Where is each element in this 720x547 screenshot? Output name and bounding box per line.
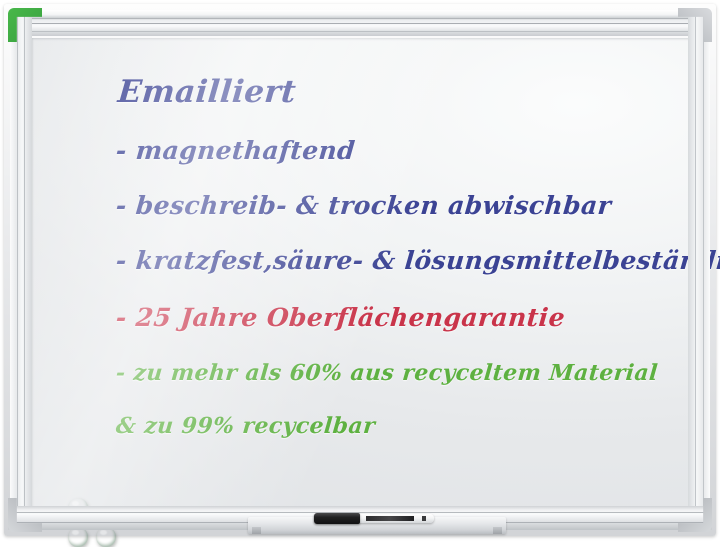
round-magnet[interactable]: [68, 527, 88, 547]
round-magnet[interactable]: [96, 527, 116, 547]
marker-cap: [314, 513, 360, 524]
whiteboard-frame: Emailliert - magnethaftend - beschreib- …: [4, 4, 716, 536]
whiteboard-marker[interactable]: [314, 513, 434, 524]
board-title: Emailliert: [116, 74, 297, 110]
handwriting-content: Emailliert - magnethaftend - beschreib- …: [32, 38, 696, 510]
board-bullet-garantie: - 25 Jahre Oberflächengarantie: [115, 303, 567, 332]
board-bullet-recycelbar: & zu 99% recycelbar: [115, 413, 376, 439]
board-bullet-abwischbar: - beschreib- & trocken abwischbar: [115, 191, 613, 220]
marker-clip: [422, 516, 426, 521]
whiteboard-writing-surface[interactable]: Emailliert - magnethaftend - beschreib- …: [32, 38, 696, 510]
marker-label: [366, 516, 414, 521]
frame-rail-left: [10, 14, 32, 526]
frame-rail-top: [8, 10, 712, 36]
pen-tray-bracket-left: [252, 527, 261, 534]
board-bullet-recyceltes-material: - zu mehr als 60% aus recyceltem Materia…: [115, 360, 659, 386]
frame-rail-right: [688, 14, 710, 526]
whiteboard-product-photo: Emailliert - magnethaftend - beschreib- …: [0, 0, 720, 542]
board-bullet-kratzfest: - kratzfest,säure- & lösungsmittelbestän…: [115, 246, 720, 275]
pen-tray-bracket-right: [493, 527, 502, 534]
board-bullet-magnethaftend: - magnethaftend: [115, 136, 357, 165]
